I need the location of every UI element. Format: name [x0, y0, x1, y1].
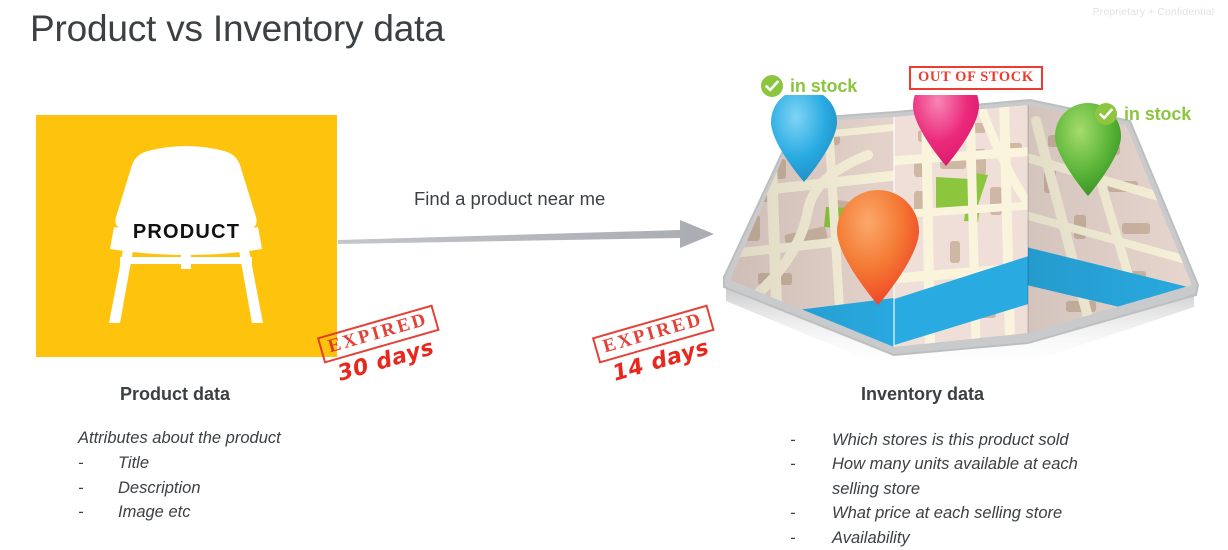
product-data-intro: Attributes about the product [78, 426, 378, 450]
inventory-attribute-list: - Which stores is this product sold - Ho… [790, 428, 1120, 550]
check-circle-icon [760, 74, 784, 98]
check-circle-icon [1094, 102, 1118, 126]
bullet-dash: - [78, 476, 118, 500]
slide-canvas: Proprietary + Confidential Product vs In… [0, 0, 1228, 540]
in-stock-label: in stock [1124, 104, 1191, 125]
in-stock-label: in stock [790, 76, 857, 97]
bullet-dash: - [78, 451, 118, 475]
product-tile-word: PRODUCT [36, 221, 337, 244]
arrow-icon [336, 216, 716, 252]
bullet-dash: - [790, 428, 832, 452]
bullet-dash: - [78, 500, 118, 524]
list-item: - Availability [790, 526, 1120, 550]
map-svg [718, 95, 1204, 370]
expired-stamp-inventory: EXPIRED 14 days [592, 305, 722, 390]
out-of-stock-stamp: OUT OF STOCK [909, 66, 1043, 90]
product-image-tile: PRODUCT [36, 115, 337, 357]
bullet-dash: - [790, 452, 832, 476]
flow-arrow [336, 216, 716, 252]
bullet-dash: - [790, 501, 832, 525]
flow-arrow-label: Find a product near me [414, 188, 605, 210]
product-data-description: Attributes about the product - Title - D… [78, 426, 378, 525]
page-title: Product vs Inventory data [30, 8, 445, 50]
list-item: - Description [78, 476, 378, 500]
product-attribute-list: - Title - Description - Image etc [78, 451, 378, 524]
inventory-data-heading: Inventory data [861, 384, 984, 405]
confidential-notice: Proprietary + Confidential [1093, 6, 1214, 18]
product-data-heading: Product data [120, 384, 230, 405]
in-stock-badge-left: in stock [760, 74, 857, 98]
list-item: - What price at each selling store [790, 501, 1120, 525]
list-item: - Title [78, 451, 378, 475]
list-item: - Image etc [78, 500, 378, 524]
list-item: - Which stores is this product sold [790, 428, 1120, 452]
folded-map-illustration [718, 95, 1204, 370]
in-stock-badge-right: in stock [1094, 102, 1191, 126]
list-item: - How many units available at each selli… [790, 452, 1120, 501]
bullet-dash: - [790, 526, 832, 550]
inventory-data-description: - Which stores is this product sold - Ho… [790, 428, 1120, 550]
